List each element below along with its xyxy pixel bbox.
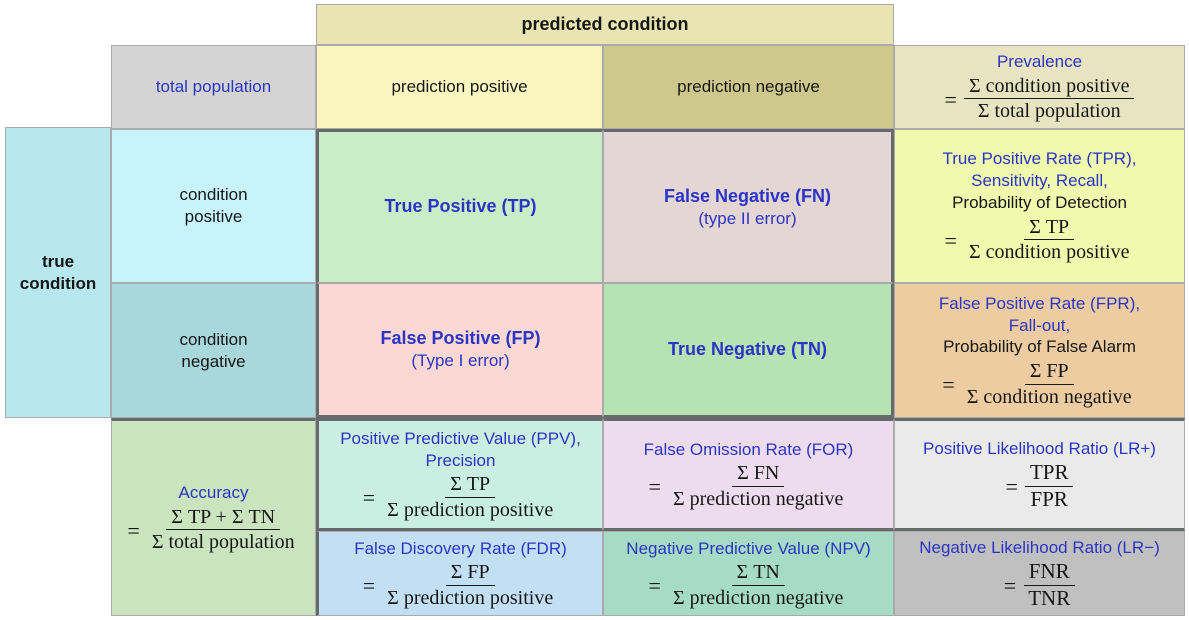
cell-total-population: total population (111, 45, 316, 129)
cell-false-discovery-rate: False Discovery Rate (FDR) = Σ FP Σ pred… (316, 531, 603, 616)
confusion-matrix-diagram: predicted condition total population pre… (0, 0, 1189, 620)
prevalence-formula: = Σ condition positive Σ total populatio… (945, 75, 1135, 123)
cell-false-negative: False Negative (FN) (type II error) (603, 129, 894, 283)
cell-true-positive-rate: True Positive Rate (TPR), Sensitivity, R… (894, 129, 1185, 283)
condition-positive-line2: positive (185, 206, 243, 228)
prevalence-equals: = (945, 89, 957, 111)
cell-true-negative: True Negative (TN) (603, 283, 894, 418)
lr-plus-numerator: TPR (1025, 461, 1074, 487)
fdr-formula: = Σ FP Σ prediction positive (363, 561, 558, 609)
npv-formula: = Σ TN Σ prediction negative (649, 561, 849, 609)
fpr-line1: False Positive Rate (FPR), (939, 293, 1140, 315)
true-condition-line2: condition (20, 273, 96, 295)
for-title: False Omission Rate (FOR) (644, 439, 854, 461)
true-condition-line1: true (42, 251, 74, 273)
prevalence-numerator: Σ condition positive (964, 75, 1135, 99)
for-formula: = Σ FN Σ prediction negative (649, 462, 849, 510)
condition-negative-line2: negative (181, 351, 245, 373)
ppv-formula: = Σ TP Σ prediction positive (363, 473, 558, 521)
prevalence-title: Prevalence (997, 51, 1082, 73)
row-header-condition-positive: condition positive (111, 129, 316, 283)
npv-title: Negative Predictive Value (NPV) (626, 538, 870, 560)
npv-equals: = (649, 575, 661, 597)
accuracy-title: Accuracy (179, 482, 249, 504)
ppv-line1: Positive Predictive Value (PPV), (340, 428, 581, 450)
false-negative-sublabel: (type II error) (698, 208, 796, 230)
fdr-equals: = (363, 575, 375, 597)
fdr-denominator: Σ prediction positive (382, 586, 558, 609)
cell-true-positive: True Positive (TP) (316, 129, 603, 283)
tpr-line3: Probability of Detection (952, 192, 1127, 214)
cell-false-positive: False Positive (FP) (Type I error) (316, 283, 603, 418)
tpr-line1: True Positive Rate (TPR), (943, 148, 1137, 170)
prediction-positive-label: prediction positive (391, 76, 527, 98)
tpr-line2: Sensitivity, Recall, (971, 170, 1108, 192)
fpr-equals: = (942, 374, 954, 396)
lr-minus-denominator: TNR (1023, 586, 1075, 611)
ppv-line2: Precision (426, 450, 496, 472)
true-negative-label: True Negative (TN) (668, 338, 827, 361)
cell-prevalence: Prevalence = Σ condition positive Σ tota… (894, 45, 1185, 129)
cell-accuracy: Accuracy = Σ TP + Σ TN Σ total populatio… (111, 418, 316, 616)
lr-plus-denominator: FPR (1026, 487, 1073, 512)
cell-false-omission-rate: False Omission Rate (FOR) = Σ FN Σ predi… (603, 418, 894, 531)
lr-minus-equals: = (1004, 575, 1016, 597)
row-header-true-condition: true condition (5, 127, 111, 418)
column-header-prediction-negative: prediction negative (603, 45, 894, 129)
ppv-equals: = (363, 487, 375, 509)
false-negative-label: False Negative (FN) (664, 185, 831, 208)
fdr-title: False Discovery Rate (FDR) (354, 538, 567, 560)
tpr-numerator: Σ TP (1024, 216, 1074, 240)
prediction-negative-label: prediction negative (677, 76, 820, 98)
total-population-label: total population (156, 76, 271, 98)
ppv-denominator: Σ prediction positive (382, 498, 558, 521)
ppv-numerator: Σ TP (445, 473, 495, 497)
true-positive-label: True Positive (TP) (384, 195, 536, 218)
tpr-equals: = (945, 230, 957, 252)
for-equals: = (649, 476, 661, 498)
lr-plus-equals: = (1006, 476, 1018, 498)
fpr-line2: Fall-out, (1009, 315, 1070, 337)
header-predicted-condition: predicted condition (316, 4, 894, 45)
lr-plus-title: Positive Likelihood Ratio (LR+) (923, 438, 1156, 460)
npv-denominator: Σ prediction negative (668, 586, 848, 609)
fpr-formula: = Σ FP Σ condition negative (942, 360, 1136, 408)
false-positive-sublabel: (Type I error) (411, 350, 509, 372)
fpr-line3: Probability of False Alarm (943, 336, 1136, 358)
for-numerator: Σ FN (732, 462, 784, 486)
lr-plus-formula: = TPR FPR (1006, 461, 1074, 511)
row-header-condition-negative: condition negative (111, 283, 316, 418)
fpr-denominator: Σ condition negative (962, 385, 1137, 408)
cell-negative-predictive-value: Negative Predictive Value (NPV) = Σ TN Σ… (603, 531, 894, 616)
for-denominator: Σ prediction negative (668, 487, 848, 510)
accuracy-equals: = (127, 520, 139, 542)
cell-false-positive-rate: False Positive Rate (FPR), Fall-out, Pro… (894, 283, 1185, 418)
lr-minus-title: Negative Likelihood Ratio (LR−) (919, 537, 1160, 559)
npv-numerator: Σ TN (732, 561, 785, 585)
lr-minus-numerator: FNR (1024, 560, 1075, 586)
cell-positive-predictive-value: Positive Predictive Value (PPV), Precisi… (316, 418, 603, 531)
prevalence-denominator: Σ total population (973, 99, 1126, 122)
fdr-numerator: Σ FP (446, 561, 495, 585)
false-positive-label: False Positive (FP) (380, 327, 540, 350)
accuracy-denominator: Σ total population (147, 530, 300, 553)
tpr-denominator: Σ condition positive (964, 240, 1135, 263)
condition-negative-line1: condition (179, 329, 247, 351)
lr-minus-formula: = FNR TNR (1004, 560, 1075, 610)
header-predicted-condition-label: predicted condition (521, 13, 688, 36)
column-header-prediction-positive: prediction positive (316, 45, 603, 129)
accuracy-numerator: Σ TP + Σ TN (166, 506, 280, 530)
fpr-numerator: Σ FP (1025, 360, 1074, 384)
accuracy-formula: = Σ TP + Σ TN Σ total population (127, 506, 299, 554)
tpr-formula: = Σ TP Σ condition positive (945, 216, 1135, 264)
cell-negative-likelihood-ratio: Negative Likelihood Ratio (LR−) = FNR TN… (894, 531, 1185, 616)
condition-positive-line1: condition (179, 184, 247, 206)
cell-positive-likelihood-ratio: Positive Likelihood Ratio (LR+) = TPR FP… (894, 418, 1185, 531)
